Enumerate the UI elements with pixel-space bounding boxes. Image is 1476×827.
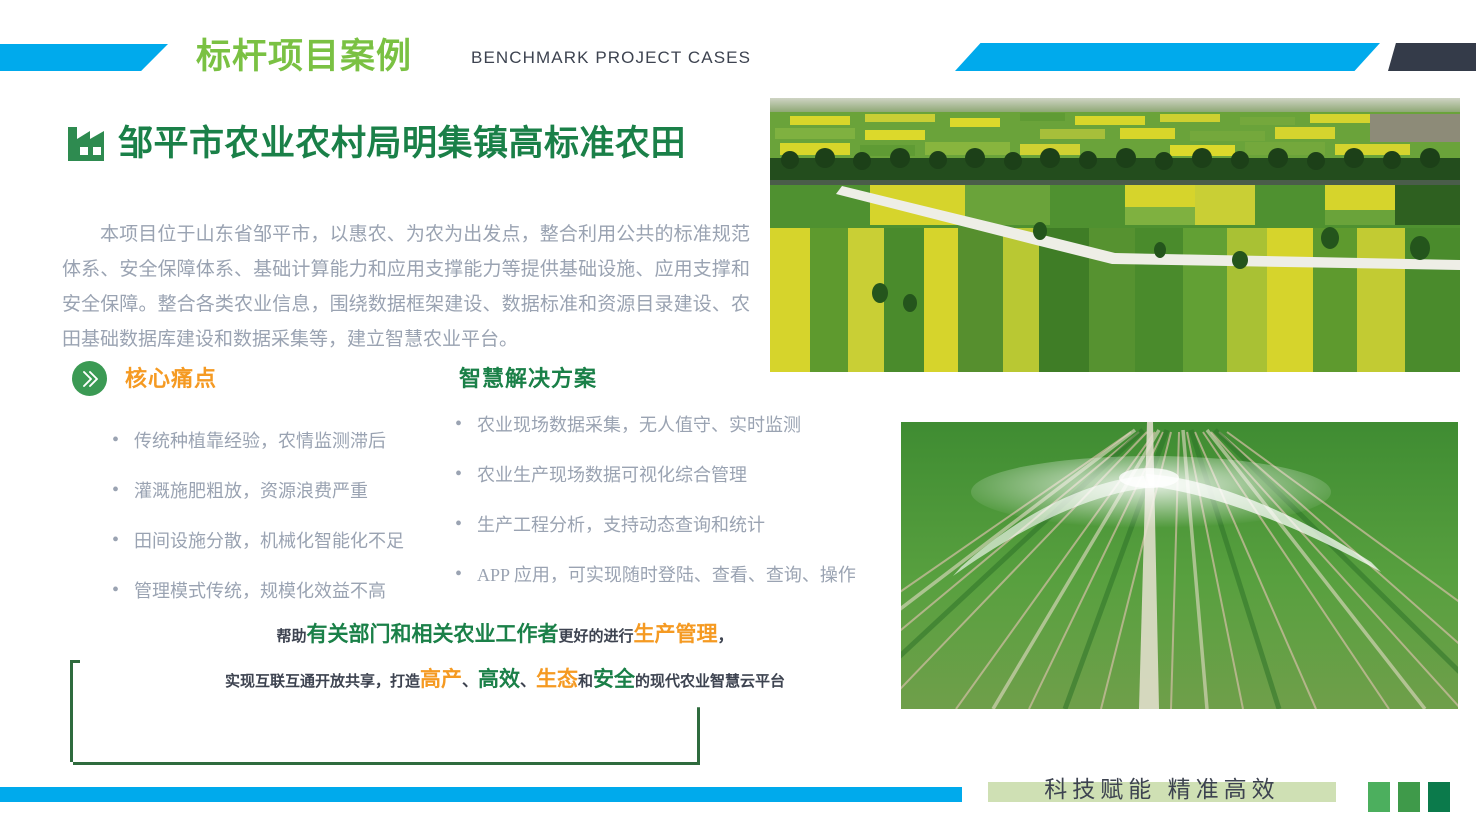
conclusion-text-part: 帮助 (276, 628, 306, 645)
factory-icon (68, 127, 106, 161)
list-item: 传统种植靠经验，农情监测滞后 (112, 428, 462, 454)
conclusion-line-2: 实现互联互通开放共享，打造高产、高效、生态和安全的现代农业智慧云平台 (0, 665, 1010, 697)
section-title-en: BENCHMARK PROJECT CASES (471, 46, 751, 70)
list-item: 生产工程分析，支持动态查询和统计 (455, 512, 895, 538)
project-title: 邹平市农业农村局明集镇高标准农田 (118, 122, 686, 166)
pain-points-heading-row: 核心痛点 (72, 361, 217, 396)
solutions-heading: 智慧解决方案 (459, 364, 597, 394)
header-accent-bar-left (0, 44, 168, 71)
footer-slogan: 科技赋能 精准高效 (988, 772, 1336, 806)
footer-square-3 (1428, 782, 1450, 812)
conclusion-highlight-orange: 生产管理 (634, 623, 718, 646)
pain-points-heading: 核心痛点 (125, 364, 217, 394)
conclusion-highlight-green: 高效 (478, 668, 520, 691)
aerial-farmland-photo (770, 98, 1460, 372)
conclusion-text-part: ， (718, 628, 734, 645)
conclusion-highlight-green: 有关部门和相关农业工作者 (306, 623, 558, 646)
conclusion-text-part: 、 (462, 673, 478, 690)
conclusion-text-part: 的现代农业智慧云平台 (635, 673, 785, 690)
project-title-row: 邹平市农业农村局明集镇高标准农田 (68, 122, 686, 166)
list-item: 灌溉施肥粗放，资源浪费严重 (112, 478, 462, 504)
section-title-cn: 标杆项目案例 (196, 35, 412, 79)
conclusion-text-part: 、 (520, 673, 536, 690)
list-item: APP 应用，可实现随时登陆、查看、查询、操作 (455, 562, 895, 588)
conclusion-highlight-orange: 生态 (536, 668, 578, 691)
header-accent-bar-right-dark (1388, 43, 1476, 71)
list-item: 农业生产现场数据可视化综合管理 (455, 462, 895, 488)
footer-square-2 (1398, 782, 1420, 812)
conclusion-text-part: 更好的进行 (558, 628, 633, 645)
footer-square-1 (1368, 782, 1390, 812)
conclusion-highlight-orange: 高产 (420, 668, 462, 691)
conclusion-text-part: 实现互联互通开放共享，打造 (225, 673, 420, 690)
conclusion-highlight-green: 安全 (593, 668, 635, 691)
solutions-list: 农业现场数据采集，无人值守、实时监测 农业生产现场数据可视化综合管理 生产工程分… (455, 412, 895, 612)
header-accent-bar-right-blue (955, 43, 1380, 71)
pain-points-list: 传统种植靠经验，农情监测滞后 灌溉施肥粗放，资源浪费严重 田间设施分散，机械化智… (112, 428, 462, 628)
aerial-irrigation-sprinkler-photo (901, 422, 1458, 709)
slide-root: 标杆项目案例 BENCHMARK PROJECT CASES 邹平市农业农村局明… (0, 0, 1476, 827)
project-description: 本项目位于山东省邹平市，以惠农、为农为出发点，整合利用公共的标准规范体系、安全保… (62, 217, 750, 357)
conclusion-text-part: 和 (578, 673, 593, 690)
footer-accent-bar (0, 787, 962, 802)
list-item: 农业现场数据采集，无人值守、实时监测 (455, 412, 895, 438)
chevron-double-right-icon (72, 361, 107, 396)
conclusion-line-1: 帮助有关部门和相关农业工作者更好的进行生产管理， (0, 620, 1010, 652)
list-item: 管理模式传统，规模化效益不高 (112, 578, 462, 604)
list-item: 田间设施分散，机械化智能化不足 (112, 528, 462, 554)
